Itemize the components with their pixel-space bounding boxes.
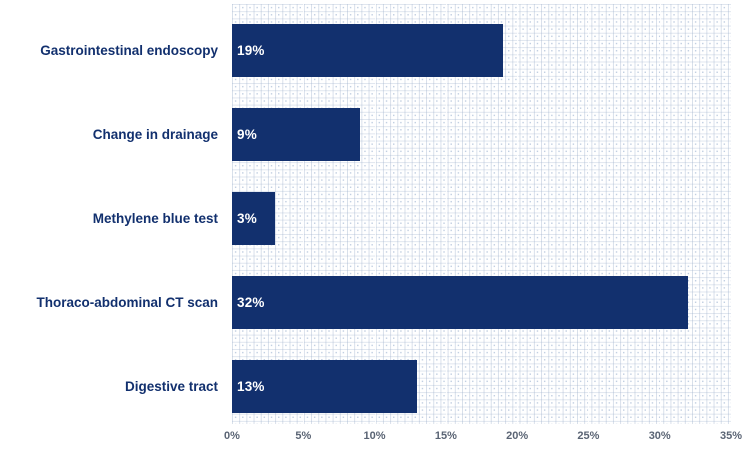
x-tick-label: 20% — [506, 430, 528, 442]
category-label-row: Methylene blue test — [0, 192, 225, 245]
category-label: Methylene blue test — [93, 211, 225, 226]
bar[interactable]: 9% — [232, 108, 360, 161]
x-tick-label: 0% — [224, 430, 240, 442]
plot-area: 19%9%3%32%13% — [232, 4, 731, 424]
x-tick-label: 10% — [364, 430, 386, 442]
bar-value-label: 9% — [232, 127, 257, 142]
category-label: Change in drainage — [93, 127, 225, 142]
bar-row: 32% — [232, 276, 731, 329]
bar-row: 3% — [232, 192, 731, 245]
gridline-35% — [731, 4, 732, 424]
bar-row: 9% — [232, 108, 731, 161]
bar[interactable]: 13% — [232, 360, 417, 413]
x-tick-label: 25% — [577, 430, 599, 442]
category-label-row: Change in drainage — [0, 108, 225, 161]
bar-value-label: 13% — [232, 379, 265, 394]
bar-row: 13% — [232, 360, 731, 413]
bar-value-label: 3% — [232, 211, 257, 226]
x-tick-label: 5% — [295, 430, 311, 442]
x-tick-label: 35% — [720, 430, 742, 442]
bar[interactable]: 32% — [232, 276, 688, 329]
bar[interactable]: 3% — [232, 192, 275, 245]
category-label-row: Digestive tract — [0, 360, 225, 413]
category-label-row: Gastrointestinal endoscopy — [0, 24, 225, 77]
bar-value-label: 32% — [232, 295, 265, 310]
category-label: Digestive tract — [125, 379, 225, 394]
x-tick-label: 30% — [649, 430, 671, 442]
bar-value-label: 19% — [232, 43, 265, 58]
bar-chart: 19%9%3%32%13% Gastrointestinal endoscopy… — [0, 0, 744, 450]
category-label: Gastrointestinal endoscopy — [40, 43, 225, 58]
category-label-row: Thoraco-abdominal CT scan — [0, 276, 225, 329]
category-label: Thoraco-abdominal CT scan — [36, 295, 225, 310]
bar[interactable]: 19% — [232, 24, 503, 77]
x-tick-label: 15% — [435, 430, 457, 442]
x-axis: 0%5%10%15%20%25%30%35% — [232, 424, 731, 450]
bar-row: 19% — [232, 24, 731, 77]
